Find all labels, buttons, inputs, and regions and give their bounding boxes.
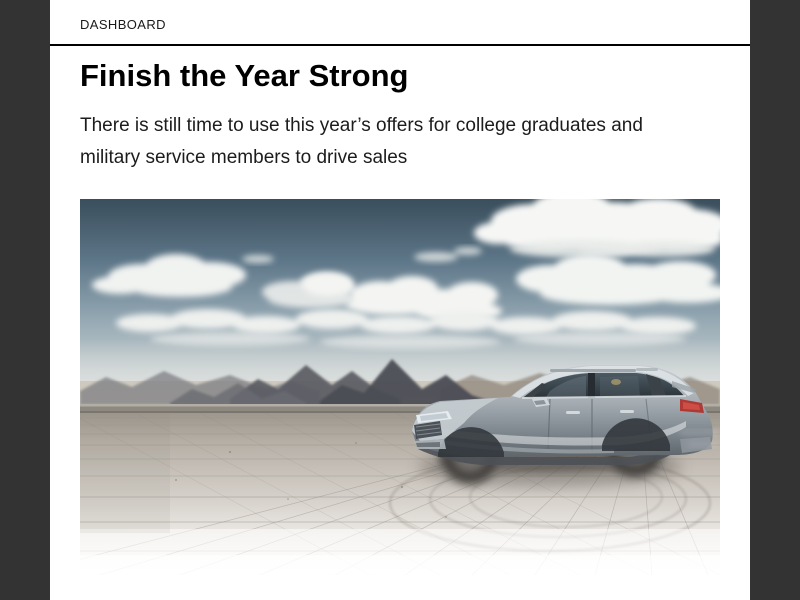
- page-subtitle: There is still time to use this year’s o…: [80, 110, 680, 174]
- left-gutter: [0, 0, 50, 600]
- hero-illustration: [80, 199, 720, 575]
- right-gutter: [750, 0, 800, 600]
- dashboard-label[interactable]: DASHBOARD: [80, 18, 166, 31]
- hero-image: [80, 199, 720, 575]
- top-bar: DASHBOARD: [50, 0, 750, 46]
- app-root: DASHBOARD Finish the Year Strong There i…: [0, 0, 800, 600]
- page-title: Finish the Year Strong: [80, 57, 408, 95]
- content-card: DASHBOARD Finish the Year Strong There i…: [50, 0, 750, 600]
